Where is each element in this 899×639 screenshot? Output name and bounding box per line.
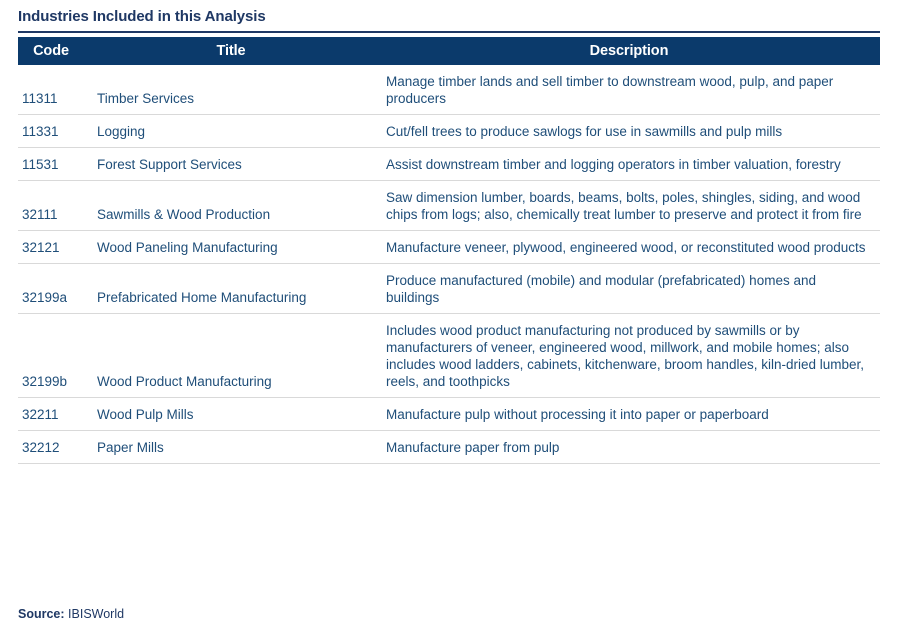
- table-row: 11311Timber ServicesManage timber lands …: [18, 65, 880, 115]
- table-row: 32212Paper MillsManufacture paper from p…: [18, 431, 880, 464]
- source-value: IBISWorld: [68, 607, 124, 621]
- cell-title: Logging: [84, 115, 378, 148]
- source-label: Source:: [18, 607, 65, 621]
- cell-description: Manage timber lands and sell timber to d…: [378, 65, 880, 115]
- cell-title: Forest Support Services: [84, 148, 378, 181]
- cell-description: Assist downstream timber and logging ope…: [378, 148, 880, 181]
- cell-code: 32111: [18, 181, 84, 231]
- cell-description: Manufacture veneer, plywood, engineered …: [378, 231, 880, 264]
- table-row: 11331LoggingCut/fell trees to produce sa…: [18, 115, 880, 148]
- cell-title: Wood Pulp Mills: [84, 398, 378, 431]
- cell-code: 32211: [18, 398, 84, 431]
- cell-code: 11531: [18, 148, 84, 181]
- table-row: 32211Wood Pulp MillsManufacture pulp wit…: [18, 398, 880, 431]
- table-row: 32121Wood Paneling ManufacturingManufact…: [18, 231, 880, 264]
- cell-title: Paper Mills: [84, 431, 378, 464]
- industries-table: Code Title Description 11311Timber Servi…: [18, 37, 880, 464]
- table-header: Code Title Description: [18, 37, 880, 65]
- cell-description: Includes wood product manufacturing not …: [378, 314, 880, 398]
- page-title: Industries Included in this Analysis: [18, 8, 266, 25]
- cell-code: 32212: [18, 431, 84, 464]
- table-row: 11531Forest Support ServicesAssist downs…: [18, 148, 880, 181]
- cell-title: Wood Product Manufacturing: [84, 314, 378, 398]
- cell-title: Prefabricated Home Manufacturing: [84, 264, 378, 314]
- table-body: 11311Timber ServicesManage timber lands …: [18, 65, 880, 464]
- column-header-title: Title: [84, 37, 378, 65]
- column-header-description: Description: [378, 37, 880, 65]
- table-header-row: Code Title Description: [18, 37, 880, 65]
- cell-description: Produce manufactured (mobile) and modula…: [378, 264, 880, 314]
- industries-table-page: Industries Included in this Analysis Cod…: [0, 0, 899, 639]
- cell-title: Timber Services: [84, 65, 378, 115]
- cell-code: 32199a: [18, 264, 84, 314]
- source-note: Source: IBISWorld: [18, 607, 124, 621]
- cell-code: 32199b: [18, 314, 84, 398]
- table-row: 32199bWood Product ManufacturingIncludes…: [18, 314, 880, 398]
- cell-description: Manufacture pulp without processing it i…: [378, 398, 880, 431]
- cell-description: Cut/fell trees to produce sawlogs for us…: [378, 115, 880, 148]
- cell-code: 11331: [18, 115, 84, 148]
- title-divider: [18, 31, 880, 33]
- table-row: 32111Sawmills & Wood ProductionSaw dimen…: [18, 181, 880, 231]
- cell-title: Wood Paneling Manufacturing: [84, 231, 378, 264]
- cell-code: 11311: [18, 65, 84, 115]
- cell-code: 32121: [18, 231, 84, 264]
- cell-description: Saw dimension lumber, boards, beams, bol…: [378, 181, 880, 231]
- cell-description: Manufacture paper from pulp: [378, 431, 880, 464]
- cell-title: Sawmills & Wood Production: [84, 181, 378, 231]
- column-header-code: Code: [18, 37, 84, 65]
- table-row: 32199aPrefabricated Home ManufacturingPr…: [18, 264, 880, 314]
